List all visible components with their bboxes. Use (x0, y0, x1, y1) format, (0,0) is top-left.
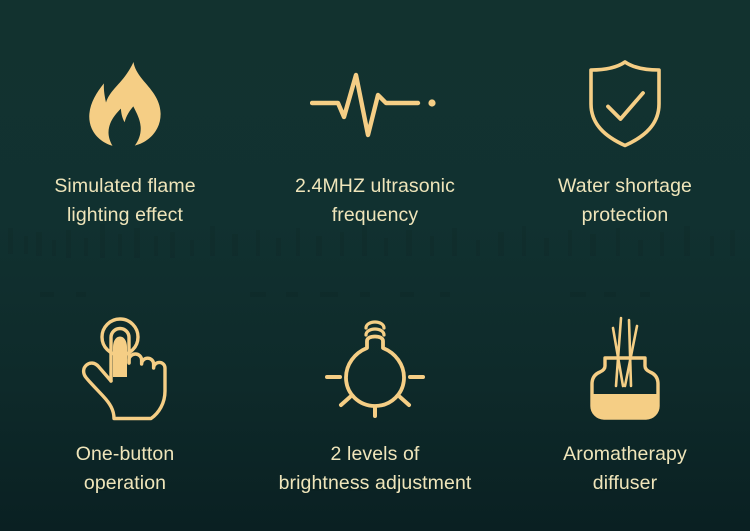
caption-line-1: 2 levels of (279, 440, 472, 469)
ultrasonic-wave-icon (310, 69, 440, 139)
feature-card-water-shortage-protection: Water shortage protection (500, 0, 750, 266)
shield-check-icon-wrap (587, 58, 663, 150)
touch-hand-icon (80, 317, 170, 421)
caption-line-1: Aromatherapy (563, 440, 687, 469)
shield-check-icon (587, 60, 663, 148)
feature-card-ultrasonic-frequency: 2.4MHZ ultrasonic frequency (250, 0, 500, 266)
feature-caption: One-button operation (76, 440, 175, 498)
feature-card-brightness-adjustment: 2 levels of brightness adjustment (250, 266, 500, 531)
light-bulb-icon-wrap (323, 314, 427, 424)
feature-caption: Simulated flame lighting effect (54, 172, 195, 230)
light-bulb-icon (323, 317, 427, 421)
touch-hand-icon-wrap (80, 314, 170, 424)
feature-highlight-board: Simulated flame lighting effect 2.4MHZ u… (0, 0, 750, 531)
feature-grid: Simulated flame lighting effect 2.4MHZ u… (0, 0, 750, 531)
feature-caption: 2.4MHZ ultrasonic frequency (295, 172, 455, 230)
caption-line-1: 2.4MHZ ultrasonic (295, 172, 455, 201)
feature-caption: 2 levels of brightness adjustment (279, 440, 472, 498)
feature-card-one-button-operation: One-button operation (0, 266, 250, 531)
caption-line-2: protection (558, 201, 692, 230)
reed-diffuser-icon-wrap (579, 314, 671, 424)
caption-line-2: diffuser (563, 469, 687, 498)
caption-line-2: lighting effect (54, 201, 195, 230)
caption-line-2: brightness adjustment (279, 469, 472, 498)
caption-line-1: One-button (76, 440, 175, 469)
reed-diffuser-icon (579, 316, 671, 422)
caption-line-1: Simulated flame (54, 172, 195, 201)
ultrasonic-wave-icon-wrap (310, 58, 440, 150)
flame-icon-wrap (86, 58, 164, 150)
caption-line-2: frequency (295, 201, 455, 230)
caption-line-1: Water shortage (558, 172, 692, 201)
feature-card-aromatherapy-diffuser: Aromatherapy diffuser (500, 266, 750, 531)
feature-card-simulated-flame: Simulated flame lighting effect (0, 0, 250, 266)
feature-caption: Aromatherapy diffuser (563, 440, 687, 498)
flame-icon (86, 61, 164, 147)
caption-line-2: operation (76, 469, 175, 498)
feature-caption: Water shortage protection (558, 172, 692, 230)
